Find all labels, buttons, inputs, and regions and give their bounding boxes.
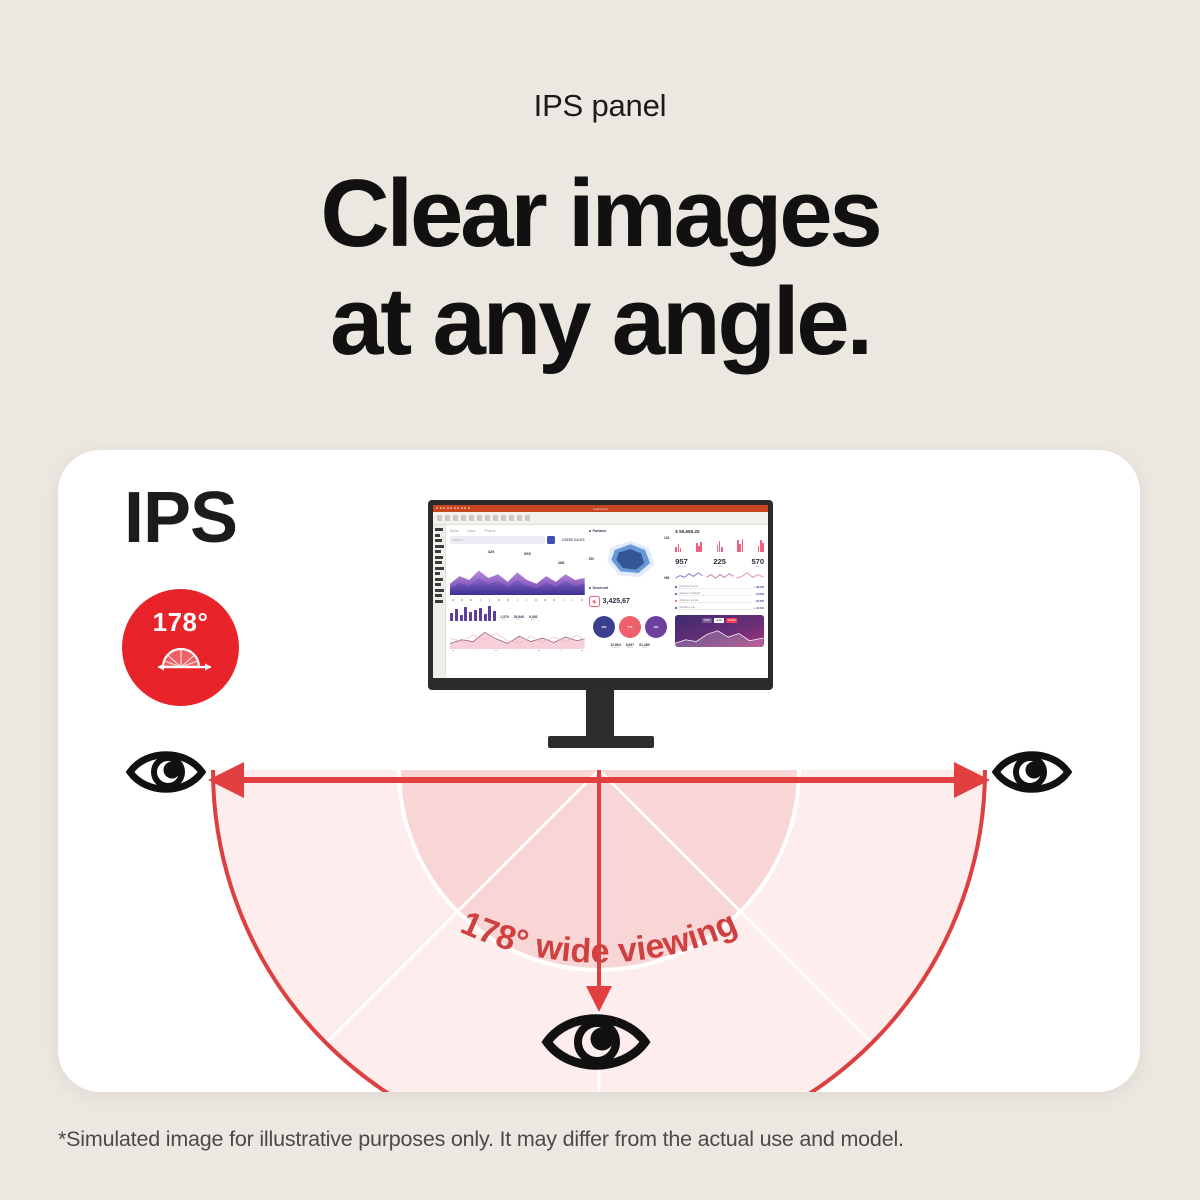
weekly-bar-group-3 (717, 541, 723, 552)
eyebrow-text: IPS panel (0, 88, 1200, 124)
weekly-bar-group-5 (758, 540, 764, 552)
bar-stat-3: 9,082 Visits (529, 615, 538, 621)
headline-line-2: at any angle. (0, 268, 1200, 376)
radial-dividers (326, 770, 872, 1092)
trio-metric-1-caption: Revenue (610, 647, 620, 649)
badge-value: 178° (153, 607, 209, 638)
section-parlatur: Parlatur (589, 529, 672, 533)
trio-metric-2-caption: Orders (626, 647, 635, 649)
line-chart-axis (450, 650, 585, 652)
trio-metrics: 12,864 Revenue 5,947 Orders 61,480 (589, 643, 672, 649)
promo-card[interactable]: VIEW ALSO MORE (675, 615, 764, 647)
promo-pill-1: VIEW (702, 618, 712, 623)
trio-metric-1: 12,864 Revenue (610, 643, 620, 649)
bar-chart (450, 605, 496, 621)
list-item: Abdomen media - 22,684 (675, 599, 764, 603)
sparkline-row (675, 571, 764, 580)
circle-metric-1-value: 460 (601, 625, 606, 629)
bar-stat-1-caption: Sales (500, 619, 509, 621)
bar-stat-2-caption: Users (514, 619, 524, 621)
search-input[interactable]: Search (450, 536, 545, 544)
area-chart-svg (450, 563, 585, 595)
list-item-name: Download report (679, 585, 752, 589)
list-item-value: - 79,803 (754, 593, 764, 596)
eye-icon-right (996, 755, 1068, 790)
list-item-dot (675, 586, 677, 588)
three-number-3-caption: Views (751, 566, 764, 568)
list-item-name: Validating will (679, 606, 752, 610)
area-chart-axis (450, 599, 585, 601)
outer-sector (213, 770, 985, 1092)
span-arrow-left-head (208, 762, 244, 798)
outer-arc-line (213, 770, 985, 1092)
disclaimer-text: *Simulated image for illustrative purpos… (58, 1127, 1148, 1152)
tab-inbox[interactable]: Inbox (468, 529, 476, 533)
span-arrow-right-head (954, 762, 990, 798)
bar-stats: 1,576 Sales 28,940 Users 9,0 (500, 615, 537, 621)
three-number-2-value: 225 (713, 557, 726, 566)
monitor-screen: Dashboard (433, 505, 768, 678)
dashboard-ui: Dashboard (433, 505, 768, 678)
three-number-2: 225 Clicks (713, 557, 726, 568)
list-item-dot (675, 607, 677, 609)
area-chart: 425 565 268 (450, 549, 585, 595)
radar-chart-svg (589, 536, 672, 582)
circle-metric-2-value: 770 (627, 625, 632, 629)
three-number-1: 957 Sessions (675, 557, 688, 568)
bar-stat-3-value: 9,082 (529, 615, 538, 619)
ips-label: IPS (124, 482, 237, 554)
promo-pill-3: MORE (726, 618, 737, 623)
dashboard-tabs[interactable]: Home Inbox Product (450, 529, 585, 533)
money-icon: ◉ (589, 596, 600, 607)
trio-metric-3-caption: Users (639, 647, 649, 649)
radar-label-1: 104 (664, 536, 669, 540)
headline-line-1: Clear images (320, 160, 879, 267)
list-item: Validating will + 44,710 (675, 606, 764, 610)
bar-stat-1: 1,576 Sales (500, 615, 509, 621)
trio-metric-2: 5,947 Orders (626, 643, 635, 649)
radar-label-2: 250 (589, 557, 594, 561)
list-item: Adhesive highlight - 79,803 (675, 592, 764, 596)
dashboard-body: Home Inbox Product Search USERS SALES (433, 525, 768, 678)
list-item-name: Adhesive highlight (679, 592, 752, 596)
monitor-mockup: Dashboard (428, 500, 778, 750)
viewing-angle-arc-icon (144, 639, 218, 678)
list-item-dot (675, 593, 677, 595)
page-title: Clear images at any angle. (0, 160, 1200, 376)
list-item-value: + 39,528 (754, 586, 764, 589)
tab-home[interactable]: Home (450, 529, 459, 533)
three-number-1-value: 957 (675, 557, 688, 566)
weekly-bar-group-2 (696, 542, 702, 552)
titlebar-dots (436, 507, 470, 509)
viewing-angle-badge: 178° (122, 589, 239, 706)
section-parlatur-label: Parlatur (593, 529, 607, 533)
weekly-bar-group-1 (675, 544, 681, 552)
tab-product[interactable]: Product (484, 529, 495, 533)
three-number-3-value: 570 (751, 557, 764, 566)
eye-icon-center (547, 1019, 645, 1066)
money-total: $ 55,656.25 (675, 529, 764, 534)
circle-metric-1: 460 (593, 616, 615, 638)
area-kpi-2: 565 (524, 551, 531, 556)
list-item-name: Abdomen media (679, 599, 752, 603)
circle-metric-3: 481 (645, 616, 667, 638)
eye-icon-left (130, 755, 202, 790)
list-item: Download report + 39,528 (675, 585, 764, 589)
monitor-base (548, 736, 654, 748)
inner-sector (399, 770, 799, 970)
circle-metrics: 460 770 481 (589, 616, 672, 638)
sparkline-2 (706, 571, 734, 580)
radar-label-3: 366 (664, 576, 669, 580)
dashboard-titlebar: Dashboard (433, 505, 768, 512)
dashboard-main: Home Inbox Product Search USERS SALES (446, 525, 768, 678)
big-value-row: ◉ 3,425,67 (589, 596, 672, 607)
monitor-neck (586, 690, 614, 742)
sparkline-1 (675, 571, 703, 580)
monitor-bezel: Dashboard (428, 500, 773, 690)
angle-caption: 178° wide viewing (455, 904, 742, 971)
search-row: Search USERS SALES (450, 536, 585, 544)
sparkline-3 (736, 571, 764, 580)
circle-metric-2: 770 (619, 616, 641, 638)
section-deserunt: Deserunt (589, 586, 672, 590)
dashboard-toolbar[interactable] (433, 512, 768, 525)
line-chart-pink (450, 625, 585, 649)
dashboard-column-right: $ 55,656.25 9 (675, 529, 764, 676)
inner-arc-line (399, 770, 799, 970)
search-button[interactable] (547, 536, 555, 544)
section-deserunt-label: Deserunt (593, 586, 609, 590)
weekly-bar-group-4 (737, 539, 743, 552)
three-number-3: 570 Views (751, 557, 764, 568)
list-item-value: + 44,710 (754, 607, 764, 610)
three-number-1-caption: Sessions (675, 566, 688, 568)
promo-pill-2: ALSO (714, 618, 724, 623)
weekly-bars (675, 538, 764, 552)
area-kpi-1: 425 (488, 549, 495, 554)
three-number-row: 957 Sessions 225 Clicks 570 (675, 557, 764, 568)
metric-list: Download report + 39,528 Adhesive highli… (675, 585, 764, 610)
circle-metric-3-value: 481 (653, 625, 658, 629)
list-item-dot (675, 600, 677, 602)
list-item-value: - 22,684 (754, 600, 764, 603)
three-number-2-caption: Clicks (713, 566, 726, 568)
titlebar-title: Dashboard (593, 507, 608, 511)
dashboard-column-left: Home Inbox Product Search USERS SALES (450, 529, 585, 676)
dashboard-column-middle: Parlatur 104 250 (589, 529, 672, 676)
bar-stat-3-caption: Visits (529, 619, 538, 621)
radar-chart: 104 250 366 (589, 536, 672, 582)
bar-stat-2: 28,940 Users (514, 615, 524, 621)
center-arrow-head (586, 986, 612, 1012)
feature-card: IPS 178° (58, 450, 1140, 1092)
bar-stat-1-value: 1,576 (500, 615, 509, 619)
users-sales-label: USERS SALES (562, 538, 585, 542)
promo-pills: VIEW ALSO MORE (675, 615, 764, 623)
promo-area-chart (675, 629, 764, 647)
trio-metric-3: 61,480 Users (639, 643, 649, 649)
dashboard-sidebar[interactable] (433, 525, 446, 678)
big-value: 3,425,67 (603, 598, 630, 605)
bar-stat-2-value: 28,940 (514, 615, 524, 619)
